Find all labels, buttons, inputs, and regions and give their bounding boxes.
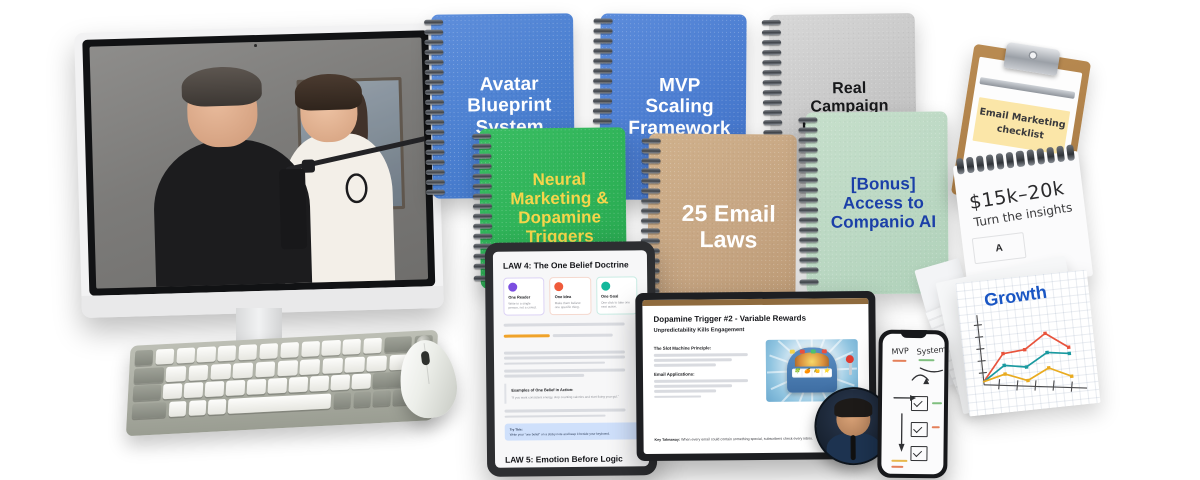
phone-note-word-1: MVP	[891, 346, 909, 356]
presenter-two-hair	[295, 73, 362, 111]
checklist-label: Email Marketing checklist	[974, 105, 1069, 148]
laptop-text-column: The Slot Machine Principle: Email Applic…	[654, 340, 759, 403]
monitor-body	[74, 23, 444, 318]
card-title: One Reader	[508, 294, 539, 299]
section-title-1: The Slot Machine Principle:	[654, 345, 758, 351]
tablet-card-one-idea: One Idea Make them believe one specific …	[549, 277, 591, 315]
document-top-bar	[642, 298, 868, 306]
spiral-binding-icon	[424, 20, 445, 194]
notebook-title: Neural Marketing & Dopamine Triggers	[503, 169, 616, 246]
example-title: Examples of One Belief in Action:	[511, 386, 633, 392]
footer-text: When every email could contain something…	[681, 437, 813, 442]
spiral-binding-icon	[798, 117, 818, 289]
example-text: “If you want consistent energy, stop cou…	[511, 394, 633, 400]
card-title: One Goal	[601, 293, 632, 298]
smartphone-device: MVP System	[877, 330, 949, 479]
tablet-heading-2: LAW 5: Emotion Before Logic	[505, 453, 639, 464]
clip-bar	[979, 77, 1075, 99]
notebook-title: 25 Email Laws	[671, 201, 785, 253]
tablet-tip-callout: Try This: Write your “one belief” on a s…	[505, 422, 639, 440]
microphone-icon	[279, 169, 308, 250]
phone-notch	[901, 330, 927, 338]
checkbox-icon	[911, 422, 928, 437]
webcam-icon	[254, 44, 257, 47]
slot-machine-lever-knob	[846, 355, 854, 363]
monitor-screen	[89, 37, 428, 288]
card-subtitle: One click to take one next action.	[601, 300, 632, 309]
notebook-title: MVP Scaling Framework	[623, 75, 736, 140]
section-title-2: Email Applications:	[654, 371, 758, 377]
mouse-scroll-wheel[interactable]	[421, 351, 431, 366]
tablet-heading: LAW 4: The One Belief Doctrine	[503, 259, 637, 270]
notepad-box-label: A	[972, 232, 1027, 264]
pip-microphone-icon	[851, 435, 856, 460]
tablet-subheading-2: Nobody buys because of a spreadsheet. Th…	[505, 466, 639, 467]
tablet-screen[interactable]: LAW 4: The One Belief Doctrine One Reade…	[493, 250, 649, 468]
phone-screen[interactable]: MVP System	[881, 334, 944, 475]
card-subtitle: Make them believe one specific thing.	[555, 301, 586, 310]
tablet-example-block: Examples of One Belief in Action: “If yo…	[504, 382, 638, 404]
microphone-shockmount-icon	[342, 170, 371, 207]
footer-label: Key Takeaway:	[655, 438, 681, 442]
tablet-card-row: One Reader Write to a single person, not…	[503, 276, 637, 315]
tablet-device: LAW 4: The One Belief Doctrine One Reade…	[485, 241, 657, 477]
monitor-bezel	[82, 30, 435, 296]
card-subtitle: Write to a single person, not a crowd.	[508, 301, 539, 310]
purple-dot-icon	[508, 283, 517, 292]
laptop-heading: Dopamine Trigger #2 - Variable Rewards	[653, 313, 857, 324]
slot-machine-arch	[795, 352, 829, 367]
presenter-one-hair	[181, 66, 262, 107]
tablet-paragraph	[504, 322, 639, 377]
desktop-monitor	[74, 23, 444, 318]
checkbox-icon	[910, 446, 927, 461]
phone-note-word-2: System	[916, 345, 945, 357]
laptop-device: Dopamine Trigger #2 - Variable Rewards U…	[635, 291, 876, 461]
bundle-mockup-scene: Avatar Blueprint System MVP Scaling Fram…	[0, 0, 1200, 480]
card-title: One Idea	[555, 294, 586, 299]
orange-dot-icon	[555, 282, 564, 291]
laptop-body: The Slot Machine Principle: Email Applic…	[654, 339, 859, 403]
notebook-title: [Bonus] Access to Companio AI	[829, 174, 939, 232]
slot-machine-reels: 🍀🍊🍋⭐	[792, 368, 833, 378]
slot-machine-cabinet: 🍀🍊🍋⭐	[787, 347, 837, 392]
checkbox-icon	[911, 396, 928, 411]
growth-chart-sheet: Growth	[955, 269, 1100, 416]
tablet-card-one-goal: One Goal One click to take one next acti…	[596, 276, 638, 314]
teal-dot-icon	[601, 282, 610, 291]
laptop-subheading: Unpredictability Kills Engagement	[654, 326, 858, 334]
pip-person-hair	[834, 398, 873, 418]
tablet-card-one-reader: One Reader Write to a single person, not…	[503, 277, 545, 315]
growth-line-chart	[955, 269, 1100, 416]
tip-label: Try This:	[510, 428, 523, 432]
keyboard[interactable]	[126, 330, 438, 436]
tip-text: Write your “one belief” on a sticky note…	[510, 431, 634, 437]
